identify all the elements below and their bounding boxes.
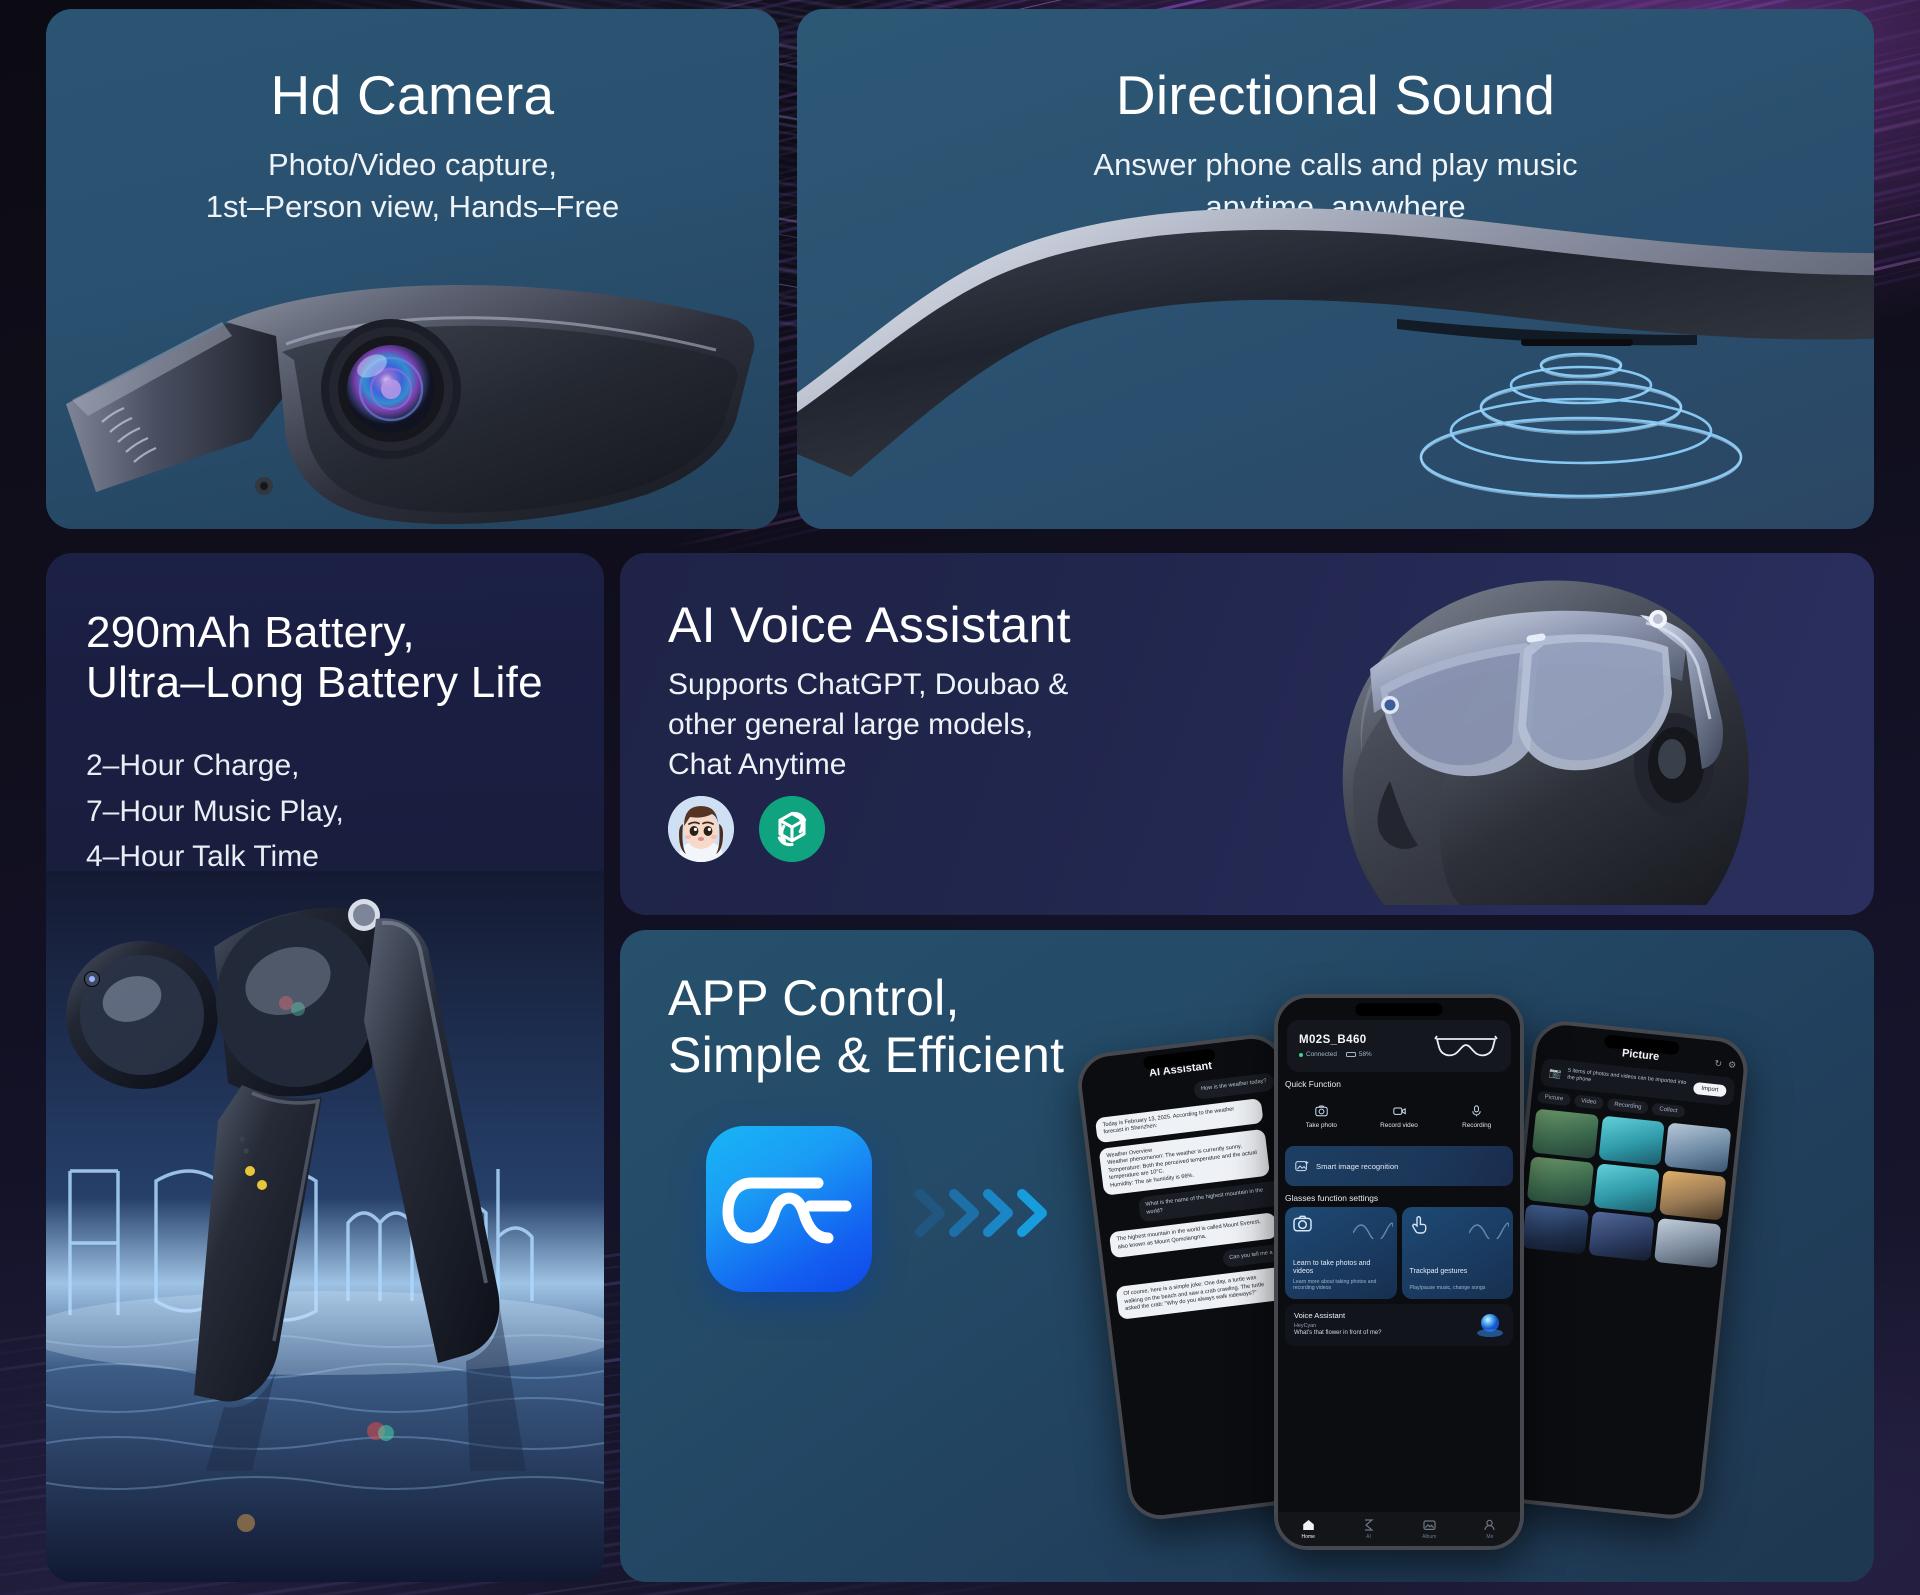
bottom-tab-bar: Home AI A	[1278, 1512, 1520, 1546]
phone-picture-gallery: Picture ↻ ⚙ 📷 5 items of photos and vide…	[1485, 1018, 1750, 1522]
ai-voice-subtitle-line1: Supports ChatGPT, Doubao &	[668, 665, 1188, 705]
photo-grid	[1515, 1102, 1738, 1275]
app-screenshots-group: AI Assistant How is the weather today? T…	[1098, 984, 1874, 1582]
device-battery: 58%	[1359, 1051, 1372, 1058]
photo-thumbnail[interactable]	[1527, 1156, 1594, 1206]
hand-tap-icon	[1410, 1215, 1429, 1234]
glasses-outline-icon	[1433, 1031, 1499, 1061]
hd-camera-subtitle-line1: Photo/Video capture,	[46, 144, 779, 186]
card-ai-voice-assistant: AI Voice Assistant Supports ChatGPT, Dou…	[620, 553, 1874, 915]
photo-thumbnail[interactable]	[1664, 1123, 1731, 1173]
chat-message-user: How is the weather today?	[1193, 1072, 1274, 1099]
voice-assistant-query: What's that flower in front of me?	[1294, 1330, 1504, 1336]
tab-me-label: Me	[1486, 1534, 1493, 1540]
phone-notch	[1355, 1003, 1442, 1016]
ai-voice-subtitle-line2: other general large models,	[668, 705, 1188, 745]
app-control-title: APP Control, Simple & Efficient	[668, 970, 1064, 1084]
tab-album[interactable]: Album	[1422, 1519, 1436, 1540]
learn-photos-desc: Learn more about taking photos and recor…	[1293, 1279, 1389, 1291]
transfer-arrows	[912, 1182, 1062, 1244]
learn-photos-title: Learn to take photos and videos	[1293, 1260, 1389, 1278]
camera-glasses-illustration	[46, 224, 779, 529]
battery-spec-item: 2–Hour Charge,	[86, 743, 344, 789]
voice-assistant-card[interactable]: Voice Assistant HeyCyan What's that flow…	[1285, 1304, 1513, 1346]
tab-me[interactable]: Me	[1483, 1519, 1496, 1540]
mannequin-head-with-glasses-illustration	[1174, 553, 1874, 915]
smart-image-icon	[1295, 1160, 1309, 1173]
import-button[interactable]: Import	[1693, 1082, 1727, 1097]
device-status: Connected	[1306, 1051, 1337, 1058]
record-video-button[interactable]: Record video	[1363, 1093, 1436, 1141]
tab-ai-label: AI	[1366, 1534, 1371, 1540]
glasses-app-icon[interactable]	[706, 1126, 872, 1292]
feature-card-grid: Hd Camera Photo/Video capture, 1st–Perso…	[0, 0, 1920, 1595]
sync-icon[interactable]: ↻	[1714, 1057, 1723, 1069]
battery-icon	[1346, 1052, 1356, 1058]
learn-photos-card[interactable]: Learn to take photos and videos Learn mo…	[1285, 1207, 1397, 1299]
device-name: M02S_B460	[1299, 1034, 1372, 1046]
connected-dot-icon	[1299, 1053, 1303, 1057]
photo-thumbnail[interactable]	[1659, 1170, 1726, 1220]
record-video-label: Record video	[1380, 1122, 1418, 1129]
ai-voice-subtitle-line3: Chat Anytime	[668, 745, 1188, 785]
hd-camera-title: Hd Camera	[46, 64, 779, 127]
recording-button[interactable]: Recording	[1440, 1093, 1513, 1141]
photo-thumbnail[interactable]	[1598, 1116, 1665, 1166]
app-control-title-line1: APP Control,	[668, 970, 1064, 1027]
ai-voice-subtitle: Supports ChatGPT, Doubao & other general…	[668, 665, 1188, 786]
device-status-card: M02S_B460 Connected 58%	[1287, 1020, 1511, 1072]
ai-model-logos	[668, 796, 825, 862]
tab-ai[interactable]: AI	[1362, 1519, 1375, 1540]
take-photo-button[interactable]: Take photo	[1285, 1093, 1358, 1141]
microphone-icon	[1470, 1105, 1483, 1117]
chat-message-bot: Of course, here is a simple joke: One da…	[1116, 1267, 1286, 1320]
ai-icon	[1362, 1519, 1375, 1531]
glasses-setting-cards: Learn to take photos and videos Learn mo…	[1278, 1207, 1520, 1299]
card-directional-sound: Directional Sound Answer phone calls and…	[797, 9, 1874, 529]
camera-icon	[1315, 1105, 1328, 1117]
image-icon: 📷	[1549, 1067, 1563, 1079]
voice-orb-icon	[1475, 1310, 1505, 1340]
chatgpt-logo-icon[interactable]	[759, 796, 825, 862]
card-app-control: APP Control, Simple & Efficient	[620, 930, 1874, 1582]
directional-sound-title: Directional Sound	[797, 64, 1874, 127]
tab-home[interactable]: Home	[1302, 1519, 1315, 1540]
take-photo-label: Take photo	[1306, 1122, 1337, 1129]
gear-icon[interactable]: ⚙	[1727, 1059, 1736, 1071]
camera-icon	[1293, 1215, 1313, 1233]
photo-thumbnail[interactable]	[1532, 1109, 1599, 1159]
battery-spec-item: 7–Hour Music Play,	[86, 789, 344, 835]
photo-thumbnail[interactable]	[1593, 1163, 1660, 1213]
phone-device-control: M02S_B460 Connected 58%	[1274, 994, 1524, 1550]
smart-image-recognition-label: Smart image recognition	[1316, 1162, 1398, 1171]
battery-title-line1: 290mAh Battery,	[86, 608, 586, 658]
album-icon	[1423, 1519, 1436, 1531]
recording-label: Recording	[1462, 1122, 1491, 1129]
doubao-avatar-icon[interactable]	[668, 796, 734, 862]
trackpad-gestures-card[interactable]: Trackpad gestures Play/pause music, chan…	[1402, 1207, 1514, 1299]
card-hd-camera: Hd Camera Photo/Video capture, 1st–Perso…	[46, 9, 779, 529]
hd-camera-subtitle: Photo/Video capture, 1st–Person view, Ha…	[46, 144, 779, 227]
trackpad-gestures-title: Trackpad gestures	[1410, 1268, 1506, 1277]
phone3-title: Picture	[1621, 1047, 1659, 1063]
battery-title-line2: Ultra–Long Battery Life	[86, 658, 586, 708]
battery-title: 290mAh Battery, Ultra–Long Battery Life	[86, 608, 586, 708]
home-icon	[1302, 1519, 1315, 1531]
tab-home-label: Home	[1302, 1534, 1315, 1540]
photo-thumbnail[interactable]	[1522, 1204, 1589, 1254]
photo-thumbnail[interactable]	[1654, 1218, 1721, 1268]
card-battery: 290mAh Battery, Ultra–Long Battery Life …	[46, 553, 604, 1582]
photo-thumbnail[interactable]	[1588, 1211, 1655, 1261]
tab-album-label: Album	[1422, 1534, 1436, 1540]
video-icon	[1393, 1105, 1406, 1117]
voice-assistant-header: Voice Assistant	[1294, 1311, 1504, 1320]
quick-function-buttons: Take photo Record video	[1278, 1093, 1520, 1141]
quick-function-header: Quick Function	[1285, 1079, 1520, 1089]
voice-assistant-brand: HeyCyan	[1294, 1323, 1504, 1329]
hd-camera-subtitle-line2: 1st–Person view, Hands–Free	[46, 186, 779, 228]
trackpad-gestures-desc: Play/pause music, change songs	[1410, 1285, 1506, 1291]
person-icon	[1483, 1519, 1496, 1531]
app-control-title-line2: Simple & Efficient	[668, 1027, 1064, 1084]
ai-voice-title: AI Voice Assistant	[668, 597, 1071, 654]
smart-image-recognition-button[interactable]: Smart image recognition	[1285, 1146, 1513, 1186]
battery-glasses-illustration	[46, 871, 604, 1582]
temple-speaker-illustration	[797, 169, 1874, 529]
battery-spec-list: 2–Hour Charge, 7–Hour Music Play, 4–Hour…	[86, 743, 344, 880]
glasses-settings-header: Glasses function settings	[1285, 1193, 1520, 1203]
